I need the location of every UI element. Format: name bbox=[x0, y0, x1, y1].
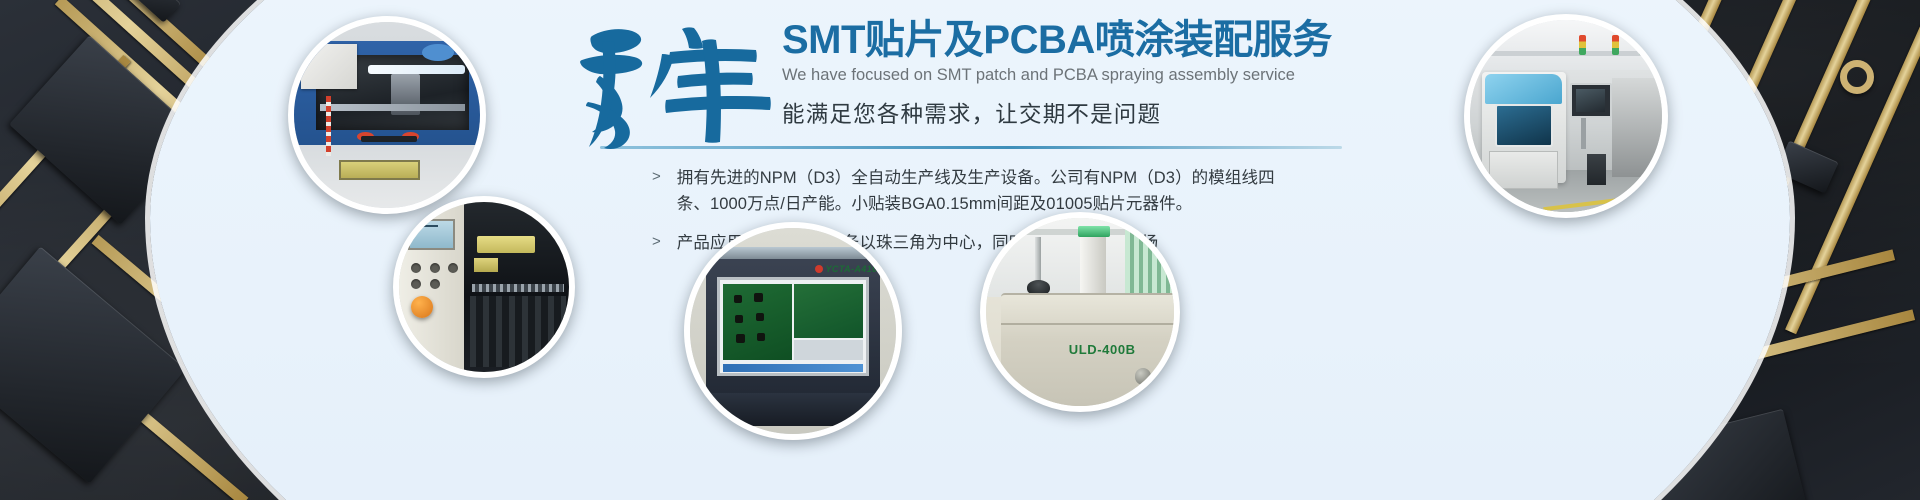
chevron-right-icon: > bbox=[652, 165, 661, 218]
headline-cn: SMT贴片及PCBA喷涂装配服务 bbox=[782, 18, 1432, 63]
promo-banner: SMT贴片及PCBA喷涂装配服务 We have focused on SMT … bbox=[0, 0, 1920, 500]
photo-bubble-board-loader: ULD-400B bbox=[980, 212, 1180, 412]
headline-group: SMT贴片及PCBA喷涂装配服务 We have focused on SMT … bbox=[782, 18, 1432, 129]
list-item: > 拥有先进的NPM（D3）全自动生产线及生产设备。公司有NPM（D3）的模组线… bbox=[652, 165, 1432, 218]
chevron-right-icon: > bbox=[652, 230, 661, 257]
photo-bubble-production-line bbox=[1464, 14, 1668, 218]
tagline-cn: 能满足您各种需求，让交期不是问题 bbox=[782, 97, 1432, 129]
machine-label-aoi: YCTA-A410 bbox=[826, 264, 878, 274]
brush-calligraphy-duonian bbox=[574, 20, 784, 150]
photo-bubble-chip-mounter bbox=[393, 196, 575, 378]
machine-label-loader: ULD-400B bbox=[1069, 342, 1136, 357]
photo-bubble-stencil-printer bbox=[288, 16, 486, 214]
photo-bubble-aoi-inspection: YCTA-A410 bbox=[684, 222, 902, 440]
bullet-text: 拥有先进的NPM（D3）全自动生产线及生产设备。公司有NPM（D3）的模组线四条… bbox=[677, 165, 1297, 218]
headline-en: We have focused on SMT patch and PCBA sp… bbox=[782, 66, 1432, 86]
